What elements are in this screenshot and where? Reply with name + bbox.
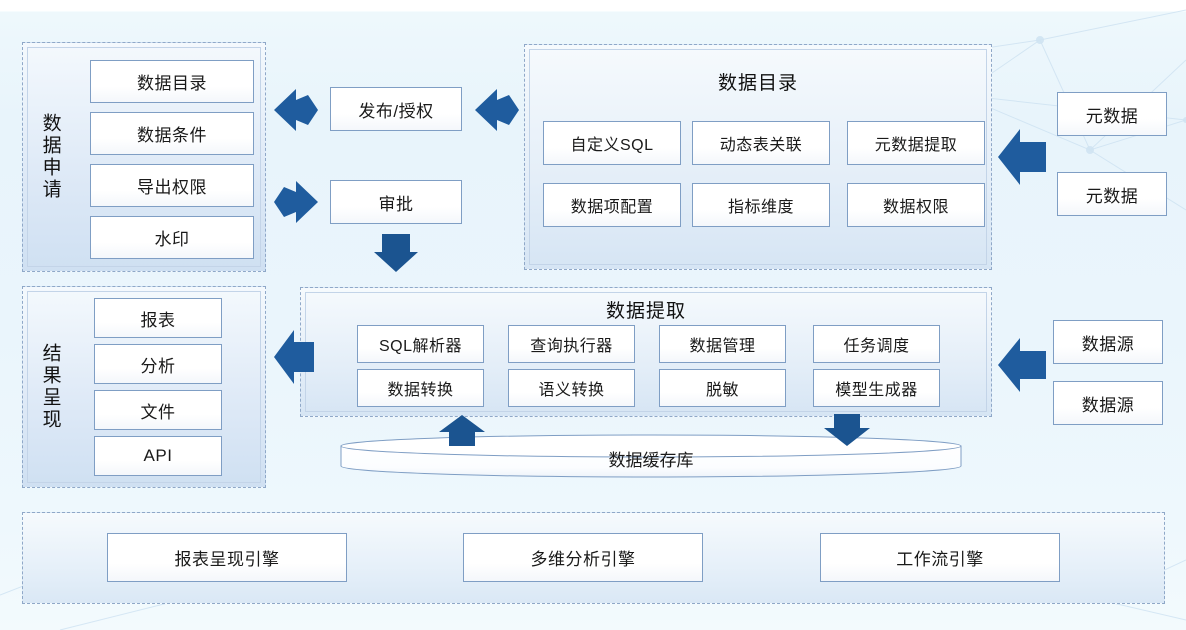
box-result-presentation-0[interactable]: 报表 xyxy=(94,298,222,338)
arrow-metadata-in-icon xyxy=(996,126,1048,188)
box-data-extraction-4[interactable]: 数据转换 xyxy=(357,369,484,407)
box-result-presentation-2[interactable]: 文件 xyxy=(94,390,222,430)
box-data-catalog-4[interactable]: 指标维度 xyxy=(692,183,830,227)
box-data-catalog-5[interactable]: 数据权限 xyxy=(847,183,985,227)
panel-data-application-label: 数据申请 xyxy=(30,52,70,262)
box-data-application-1[interactable]: 数据条件 xyxy=(90,112,254,155)
panel-result-presentation-label: 结果呈现 xyxy=(30,296,70,478)
box-result-presentation-1[interactable]: 分析 xyxy=(94,344,222,384)
panel-data-catalog-title: 数据目录 xyxy=(524,68,992,95)
box-workflow-approve[interactable]: 审批 xyxy=(330,180,462,224)
box-engine-1[interactable]: 多维分析引擎 xyxy=(463,533,703,582)
arrow-cache-down-icon xyxy=(822,414,872,446)
box-data-extraction-2[interactable]: 数据管理 xyxy=(659,325,786,363)
box-data-extraction-5[interactable]: 语义转换 xyxy=(508,369,635,407)
box-result-presentation-3[interactable]: API xyxy=(94,436,222,476)
box-data-application-3[interactable]: 水印 xyxy=(90,216,254,259)
box-workflow-publish[interactable]: 发布/授权 xyxy=(330,87,462,131)
arrow-approve-down-icon xyxy=(372,232,420,274)
box-metadata-1[interactable]: 元数据 xyxy=(1057,172,1167,216)
box-datasource-1[interactable]: 数据源 xyxy=(1053,381,1163,425)
arrow-application-to-approve-icon xyxy=(272,178,320,226)
box-data-extraction-1[interactable]: 查询执行器 xyxy=(508,325,635,363)
box-data-application-2[interactable]: 导出权限 xyxy=(90,164,254,207)
box-data-catalog-0[interactable]: 自定义SQL xyxy=(543,121,681,165)
box-data-extraction-0[interactable]: SQL解析器 xyxy=(357,325,484,363)
box-data-extraction-6[interactable]: 脱敏 xyxy=(659,369,786,407)
box-data-application-0[interactable]: 数据目录 xyxy=(90,60,254,103)
box-metadata-0[interactable]: 元数据 xyxy=(1057,92,1167,136)
arrow-catalog-to-publish-icon xyxy=(473,86,521,134)
cache-database-label: 数据缓存库 xyxy=(340,446,962,471)
panel-data-extraction-title: 数据提取 xyxy=(300,296,992,323)
box-datasource-0[interactable]: 数据源 xyxy=(1053,320,1163,364)
box-data-catalog-1[interactable]: 动态表关联 xyxy=(692,121,830,165)
arrow-datasource-in-icon xyxy=(996,336,1048,394)
box-engine-2[interactable]: 工作流引擎 xyxy=(820,533,1060,582)
box-engine-0[interactable]: 报表呈现引擎 xyxy=(107,533,347,582)
box-data-extraction-3[interactable]: 任务调度 xyxy=(813,325,940,363)
diagram-canvas: 数据申请 数据目录 数据条件 导出权限 水印 结果呈现 报表 分析 文件 API… xyxy=(0,0,1186,630)
arrow-extraction-to-result-icon xyxy=(272,326,316,388)
box-data-catalog-3[interactable]: 数据项配置 xyxy=(543,183,681,227)
arrow-cache-up-icon xyxy=(437,415,487,447)
arrow-publish-to-application-icon xyxy=(272,86,320,134)
box-data-extraction-7[interactable]: 模型生成器 xyxy=(813,369,940,407)
box-data-catalog-2[interactable]: 元数据提取 xyxy=(847,121,985,165)
